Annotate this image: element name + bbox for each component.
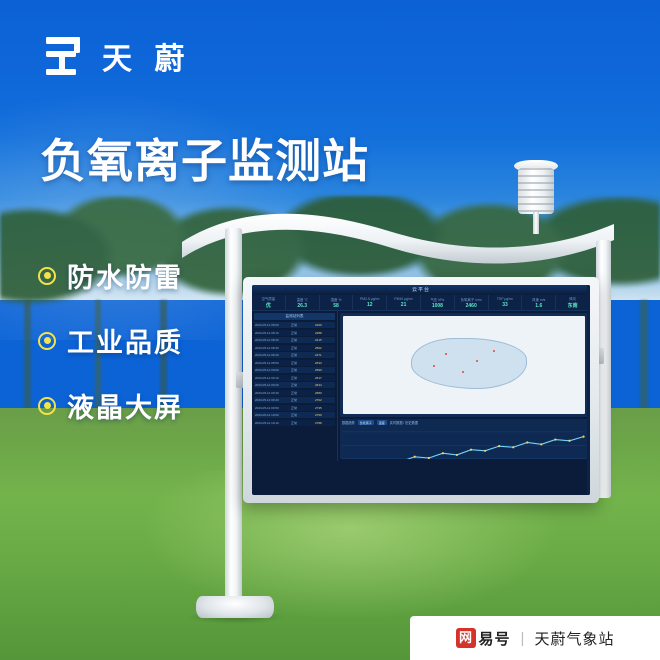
dashboard-body: 监测站列表 2023-05-12 08:00 正常 2460 2023-05-1… — [252, 311, 590, 461]
cell-time: 2023-05-12 09:40 — [255, 398, 289, 402]
cell-value: 2533 — [315, 361, 333, 365]
kpi-label: 湿度 % — [331, 297, 342, 302]
cell-value: 2617 — [315, 376, 333, 380]
kpi-card: 负氧离子 /cm³ 2460 — [455, 295, 489, 310]
cell-value: 2680 — [315, 391, 333, 395]
station-list-panel[interactable]: 监测站列表 2023-05-12 08:00 正常 2460 2023-05-1… — [252, 311, 338, 461]
cell-status: 正常 — [291, 406, 313, 410]
feature-list: 防水防雷 工业品质 液晶大屏 — [38, 256, 183, 425]
kpi-bar: 空气质量 优 温度 ℃ 26.3 湿度 % 58 PM2.5 μg/m³ 12 … — [252, 295, 590, 311]
table-row[interactable]: 2023-05-12 08:50 正常 2533 — [254, 360, 335, 366]
sensor-stem — [533, 212, 539, 234]
kpi-card: 风向 东南 — [556, 295, 590, 310]
brand-logo: 天 蔚 — [44, 34, 191, 78]
station-list-rows: 2023-05-12 08:00 正常 2460 2023-05-12 08:1… — [254, 322, 335, 426]
cell-time: 2023-05-12 09:30 — [255, 391, 289, 395]
kpi-label: 风向 — [569, 296, 576, 301]
lcd-screen-frame: 云平台 空气质量 优 温度 ℃ 26.3 湿度 % 58 PM2.5 μg/m³… — [243, 277, 599, 503]
kpi-card: PM2.5 μg/m³ 12 — [353, 295, 387, 310]
cell-status: 正常 — [291, 346, 313, 350]
feature-item: 液晶大屏 — [38, 386, 183, 425]
station-post-left — [225, 228, 242, 603]
cell-time: 2023-05-12 09:10 — [255, 376, 289, 380]
feature-label: 防水防雷 — [67, 256, 183, 295]
cell-status: 正常 — [291, 383, 313, 387]
kpi-value: 26.3 — [297, 303, 307, 309]
cell-time: 2023-05-12 09:20 — [255, 383, 289, 387]
kpi-label: 温度 ℃ — [297, 297, 308, 302]
chart-plot — [342, 427, 586, 459]
cell-status: 正常 — [291, 391, 313, 395]
cell-time: 2023-05-12 08:10 — [255, 331, 289, 335]
kpi-value: 12 — [367, 302, 373, 308]
footer-separator: | — [521, 630, 525, 647]
kpi-label: 空气质量 — [262, 296, 276, 301]
footer-bar: 网 易号 | 天蔚气象站 — [410, 616, 660, 660]
kpi-label: 负氧离子 /cm³ — [461, 297, 482, 302]
table-row[interactable]: 2023-05-12 09:20 正常 2644 — [254, 382, 335, 388]
table-row[interactable]: 2023-05-12 08:20 正常 2415 — [254, 337, 335, 343]
cell-status: 正常 — [291, 368, 313, 372]
feature-item: 防水防雷 — [38, 256, 183, 295]
cell-value: 2460 — [315, 323, 333, 327]
kpi-card: TSP μg/m³ 33 — [489, 295, 523, 310]
station-map[interactable] — [340, 313, 588, 417]
cell-status: 正常 — [291, 413, 313, 417]
cell-time: 2023-05-12 08:20 — [255, 338, 289, 342]
netease-badge-icon: 网 — [456, 628, 476, 648]
kpi-label: 风速 m/s — [532, 297, 545, 302]
cell-value: 2702 — [315, 398, 333, 402]
cell-value: 2788 — [315, 421, 333, 425]
cell-time: 2023-05-12 08:00 — [255, 323, 289, 327]
trend-chart[interactable]: 数据趋势 负氧离子 温度 实时数据 / 历史数据 — [340, 419, 588, 459]
cell-value: 2415 — [315, 338, 333, 342]
map-marker[interactable] — [445, 353, 447, 355]
kpi-label: 气压 hPa — [431, 297, 445, 302]
dashboard-right-column: 数据趋势 负氧离子 温度 实时数据 / 历史数据 — [338, 311, 590, 461]
cell-status: 正常 — [291, 361, 313, 365]
cell-value: 2760 — [315, 413, 333, 417]
sensor-radiation-shield — [518, 168, 554, 214]
map-canvas — [343, 316, 585, 414]
kpi-card: 空气质量 优 — [252, 295, 286, 310]
table-row[interactable]: 2023-05-12 09:40 正常 2702 — [254, 397, 335, 403]
table-row[interactable]: 2023-05-12 08:00 正常 2460 — [254, 322, 335, 328]
cell-time: 2023-05-12 08:40 — [255, 353, 289, 357]
kpi-card: 温度 ℃ 26.3 — [286, 295, 320, 310]
cell-value: 2735 — [315, 406, 333, 410]
cell-time: 2023-05-12 08:30 — [255, 346, 289, 350]
cell-time: 2023-05-12 09:50 — [255, 406, 289, 410]
kpi-value: 2460 — [466, 303, 477, 309]
kpi-value: 优 — [266, 302, 271, 309]
cell-status: 正常 — [291, 338, 313, 342]
page-title: 负氧离子监测站 — [40, 125, 369, 191]
chart-title: 数据趋势 — [342, 420, 355, 425]
kpi-card: 气压 hPa 1008 — [421, 295, 455, 310]
screen-scrollbar[interactable] — [587, 285, 590, 495]
cell-status: 正常 — [291, 323, 313, 327]
feature-label: 液晶大屏 — [67, 386, 183, 425]
cell-value: 2590 — [315, 368, 333, 372]
kpi-value: 33 — [502, 302, 508, 308]
kpi-label: TSP μg/m³ — [497, 297, 513, 301]
kpi-label: PM10 μg/m³ — [394, 297, 413, 301]
feature-label: 工业品质 — [67, 321, 183, 360]
cell-time: 2023-05-12 10:10 — [255, 421, 289, 425]
station-list-header: 监测站列表 — [254, 313, 335, 320]
cell-value: 2388 — [315, 331, 333, 335]
table-row[interactable]: 2023-05-12 08:30 正常 2502 — [254, 345, 335, 351]
map-marker[interactable] — [462, 371, 464, 373]
table-row[interactable]: 2023-05-12 10:10 正常 2788 — [254, 420, 335, 426]
map-landmass — [411, 338, 527, 389]
table-row[interactable]: 2023-05-12 08:40 正常 2471 — [254, 352, 335, 358]
netease-badge: 网 易号 — [456, 628, 511, 649]
kpi-value: 1008 — [432, 303, 443, 309]
cell-time: 2023-05-12 08:50 — [255, 361, 289, 365]
bullet-ring-icon — [38, 267, 56, 285]
tianwei-logo-icon — [44, 34, 90, 78]
cell-status: 正常 — [291, 376, 313, 380]
table-row[interactable]: 2023-05-12 09:50 正常 2735 — [254, 405, 335, 411]
cell-value: 2502 — [315, 346, 333, 350]
table-row[interactable]: 2023-05-12 09:30 正常 2680 — [254, 390, 335, 396]
cell-status: 正常 — [291, 331, 313, 335]
kpi-label: PM2.5 μg/m³ — [360, 297, 379, 301]
table-row[interactable]: 2023-05-12 08:10 正常 2388 — [254, 330, 335, 336]
cell-status: 正常 — [291, 398, 313, 402]
kpi-card: PM10 μg/m³ 21 — [387, 295, 421, 310]
netease-badge-word: 易号 — [479, 628, 511, 649]
station-base-plate — [196, 596, 274, 618]
cell-value: 2471 — [315, 353, 333, 357]
table-row[interactable]: 2023-05-12 09:00 正常 2590 — [254, 367, 335, 373]
map-marker[interactable] — [433, 365, 435, 367]
chart-tag[interactable]: 负氧离子 — [358, 420, 374, 425]
kpi-card: 湿度 % 58 — [320, 295, 354, 310]
brand-name: 天 蔚 — [102, 34, 191, 78]
chart-header: 数据趋势 负氧离子 温度 实时数据 / 历史数据 — [340, 419, 588, 426]
footer-account-name: 天蔚气象站 — [534, 628, 614, 649]
bullet-ring-icon — [38, 332, 56, 350]
kpi-card: 风速 m/s 1.6 — [522, 295, 556, 310]
poster: 天 蔚 负氧离子监测站 防水防雷 工业品质 液晶大屏 — [0, 0, 660, 660]
chart-tag[interactable]: 温度 — [377, 420, 387, 425]
dashboard-screen[interactable]: 云平台 空气质量 优 温度 ℃ 26.3 湿度 % 58 PM2.5 μg/m³… — [252, 285, 590, 495]
kpi-value: 58 — [333, 303, 339, 309]
feature-item: 工业品质 — [38, 321, 183, 360]
kpi-value: 东南 — [568, 302, 578, 309]
kpi-value: 21 — [401, 302, 407, 308]
chart-legend: 实时数据 / 历史数据 — [390, 420, 418, 425]
cell-value: 2644 — [315, 383, 333, 387]
dashboard-title: 云平台 — [252, 285, 590, 295]
weather-sensor — [512, 150, 560, 230]
cell-status: 正常 — [291, 421, 313, 425]
kpi-value: 1.6 — [535, 303, 542, 309]
table-row[interactable]: 2023-05-12 09:10 正常 2617 — [254, 375, 335, 381]
cell-time: 2023-05-12 09:00 — [255, 368, 289, 372]
table-row[interactable]: 2023-05-12 10:00 正常 2760 — [254, 412, 335, 418]
cell-status: 正常 — [291, 353, 313, 357]
bullet-ring-icon — [38, 397, 56, 415]
cell-time: 2023-05-12 10:00 — [255, 413, 289, 417]
